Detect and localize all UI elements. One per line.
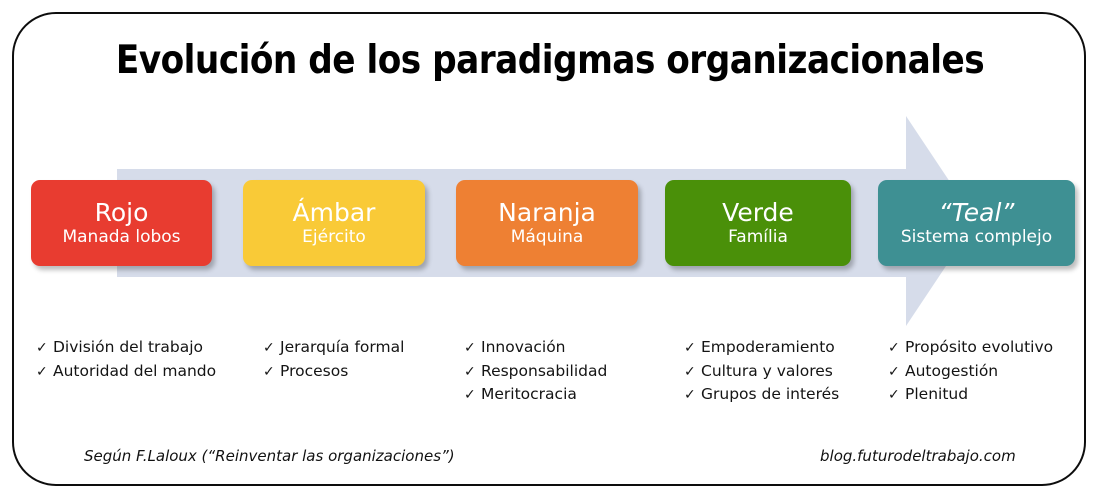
check-icon: ✓ (684, 362, 701, 383)
list-item: ✓Jerarquía formal (263, 336, 404, 360)
list-item-label: Empoderamiento (701, 338, 835, 356)
stage-box-ambar[interactable]: Ámbar Ejército (243, 180, 425, 266)
check-icon: ✓ (263, 338, 280, 359)
stage-name: Naranja (498, 200, 596, 226)
check-icon: ✓ (36, 338, 53, 359)
list-item: ✓Cultura y valores (684, 360, 839, 384)
stage-subtitle: Ejército (302, 228, 366, 247)
list-item-label: Grupos de interés (701, 385, 839, 403)
list-item: ✓Propósito evolutivo (888, 336, 1053, 360)
list-item: ✓Empoderamiento (684, 336, 839, 360)
list-item: ✓División del trabajo (36, 336, 216, 360)
list-item: ✓Plenitud (888, 383, 1053, 407)
list-item: ✓Responsabilidad (464, 360, 607, 384)
check-icon: ✓ (684, 385, 701, 406)
list-item-label: Cultura y valores (701, 362, 833, 380)
stage-box-verde[interactable]: Verde Família (665, 180, 851, 266)
check-icon: ✓ (888, 338, 905, 359)
check-icon: ✓ (888, 385, 905, 406)
check-icon: ✓ (684, 338, 701, 359)
stage-subtitle: Família (728, 228, 788, 247)
infographic-canvas: Evolución de los paradigmas organizacion… (0, 0, 1100, 500)
bullet-column-naranja: ✓Innovación ✓Responsabilidad ✓Meritocrac… (464, 336, 607, 407)
stage-name: Verde (722, 200, 794, 226)
list-item-label: Propósito evolutivo (905, 338, 1053, 356)
stage-subtitle: Manada lobos (62, 228, 180, 247)
stage-subtitle: Sistema complejo (901, 228, 1052, 247)
check-icon: ✓ (888, 362, 905, 383)
check-icon: ✓ (464, 385, 481, 406)
list-item: ✓Innovación (464, 336, 607, 360)
list-item: ✓Meritocracia (464, 383, 607, 407)
list-item-label: Autogestión (905, 362, 998, 380)
list-item-label: Responsabilidad (481, 362, 607, 380)
check-icon: ✓ (464, 362, 481, 383)
stage-name: Ámbar (293, 200, 376, 226)
stage-box-naranja[interactable]: Naranja Máquina (456, 180, 638, 266)
stage-name: “Teal” (939, 200, 1015, 226)
bullet-column-verde: ✓Empoderamiento ✓Cultura y valores ✓Grup… (684, 336, 839, 407)
list-item-label: Jerarquía formal (280, 338, 404, 356)
list-item: ✓Autoridad del mando (36, 360, 216, 384)
list-item: ✓Autogestión (888, 360, 1053, 384)
list-item-label: Autoridad del mando (53, 362, 216, 380)
site-credit[interactable]: blog.futurodeltrabajo.com (820, 447, 1016, 465)
list-item: ✓Procesos (263, 360, 404, 384)
bullet-column-teal: ✓Propósito evolutivo ✓Autogestión ✓Pleni… (888, 336, 1053, 407)
bullet-column-ambar: ✓Jerarquía formal ✓Procesos (263, 336, 404, 383)
stage-name: Rojo (95, 200, 149, 226)
list-item: ✓Grupos de interés (684, 383, 839, 407)
check-icon: ✓ (263, 362, 280, 383)
list-item-label: Plenitud (905, 385, 968, 403)
stage-box-teal[interactable]: “Teal” Sistema complejo (878, 180, 1075, 266)
check-icon: ✓ (36, 362, 53, 383)
bullet-column-rojo: ✓División del trabajo ✓Autoridad del man… (36, 336, 216, 383)
stage-subtitle: Máquina (511, 228, 584, 247)
list-item-label: División del trabajo (53, 338, 203, 356)
check-icon: ✓ (464, 338, 481, 359)
stage-list: Rojo Manada lobos Ámbar Ejército Naranja… (0, 0, 1100, 500)
source-credit: Según F.Laloux (“Reinventar las organiza… (84, 447, 455, 465)
list-item-label: Meritocracia (481, 385, 577, 403)
list-item-label: Innovación (481, 338, 566, 356)
list-item-label: Procesos (280, 362, 348, 380)
stage-box-rojo[interactable]: Rojo Manada lobos (31, 180, 212, 266)
